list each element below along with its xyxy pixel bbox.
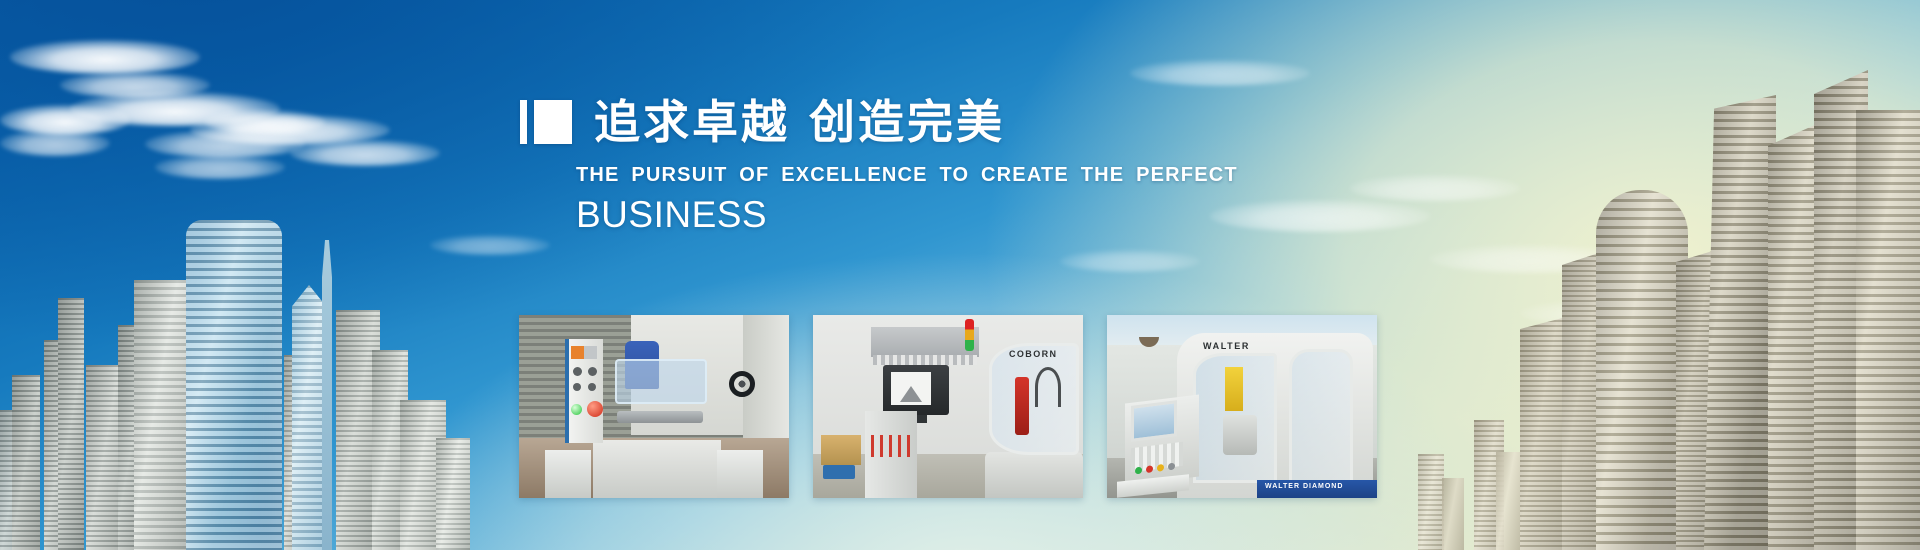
button-yellow xyxy=(1157,464,1164,472)
hood-vents xyxy=(873,355,977,365)
machine-left-cover xyxy=(545,450,591,498)
cabinet-gauges xyxy=(871,435,911,457)
city-skyline-right xyxy=(1400,80,1920,550)
building xyxy=(12,375,40,550)
banner-keyword: BUSINESS xyxy=(576,193,1340,237)
hero-banner: 追求卓越 创造完美 THE PURSUIT OF EXCELLENCE TO C… xyxy=(0,0,1920,550)
machine-right-cover xyxy=(717,450,763,498)
machine-hood xyxy=(871,327,979,357)
button-grey xyxy=(1168,463,1175,471)
control-knob xyxy=(588,383,596,391)
control-display xyxy=(571,346,597,359)
photo-content: COBORN xyxy=(813,315,1083,498)
start-button-green xyxy=(571,404,582,415)
building xyxy=(322,240,332,550)
photo-gallery: COBORN xyxy=(519,315,1377,498)
handwheel xyxy=(729,371,755,397)
building xyxy=(58,298,84,550)
coolant-hose xyxy=(1035,367,1061,407)
emergency-stop-button xyxy=(587,401,603,417)
page-title: 追求卓越 创造完美 xyxy=(594,98,1005,146)
blue-crate xyxy=(823,465,855,479)
logo-bar-icon xyxy=(520,100,527,144)
logo-mark xyxy=(520,100,572,144)
building xyxy=(292,285,326,550)
title-row: 追求卓越 创造完美 xyxy=(520,98,1340,146)
button-green xyxy=(1135,467,1142,475)
screen-graphic-icon xyxy=(900,386,922,402)
banner-subtitle: THE PURSUIT OF EXCELLENCE TO CREATE THE … xyxy=(576,163,1340,187)
curved-glass-enclosure xyxy=(989,343,1079,455)
banner-copy: 追求卓越 创造完美 THE PURSUIT OF EXCELLENCE TO C… xyxy=(520,98,1340,237)
button-red xyxy=(1146,465,1153,473)
transparent-guard xyxy=(615,359,707,404)
building xyxy=(1596,190,1688,550)
monitor-screen xyxy=(891,372,931,405)
machine-base-drum xyxy=(985,452,1083,498)
building xyxy=(1704,95,1776,550)
logo-square-icon xyxy=(534,100,572,144)
photo-content: WALTER WALTER DIAMOND xyxy=(1107,315,1377,498)
stack-light-icon xyxy=(965,319,974,351)
building xyxy=(1442,478,1464,550)
building xyxy=(436,438,470,550)
machine-stripe-text: WALTER DIAMOND xyxy=(1265,483,1343,490)
spindle-assembly xyxy=(1223,415,1257,455)
red-tooling xyxy=(1015,377,1029,435)
magnetic-chuck xyxy=(617,411,703,423)
machine-brand-label: COBORN xyxy=(1009,349,1057,359)
building xyxy=(1496,452,1520,550)
machine-brand-label: WALTER xyxy=(1203,341,1250,351)
console-screen xyxy=(1131,400,1177,442)
photo-surface-grinder[interactable] xyxy=(519,315,789,498)
cardboard-boxes xyxy=(821,435,861,465)
photo-content xyxy=(519,315,789,498)
control-knob xyxy=(573,383,581,391)
photo-coborn-machine[interactable]: COBORN xyxy=(813,315,1083,498)
building xyxy=(1856,110,1920,550)
yellow-fixture xyxy=(1225,367,1243,411)
glass-door-right xyxy=(1289,349,1353,483)
building xyxy=(134,280,190,550)
machine-base xyxy=(593,440,721,498)
control-knob xyxy=(588,367,597,376)
photo-walter-grinder[interactable]: WALTER WALTER DIAMOND xyxy=(1107,315,1377,498)
building xyxy=(186,220,282,550)
building xyxy=(1418,454,1444,550)
city-skyline-left xyxy=(0,130,470,550)
machine-base-stripe: WALTER DIAMOND xyxy=(1257,480,1377,498)
control-knob xyxy=(573,367,582,376)
